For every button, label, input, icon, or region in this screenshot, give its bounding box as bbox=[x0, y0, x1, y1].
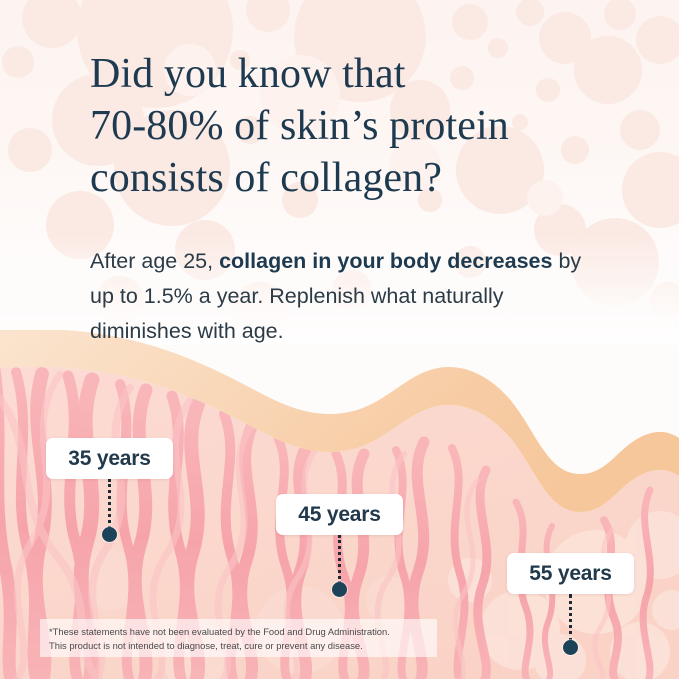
age-marker-35-label[interactable]: 35 years bbox=[46, 438, 173, 479]
body-segment-bold: collagen in your body decreases bbox=[219, 249, 552, 273]
disclaimer-line-1: *These statements have not been evaluate… bbox=[49, 625, 428, 639]
age-marker-45-label[interactable]: 45 years bbox=[276, 494, 403, 535]
age-marker-45-dot[interactable] bbox=[332, 582, 347, 597]
infographic-canvas: Did you know that 70-80% of skin’s prote… bbox=[0, 0, 679, 679]
headline-line-2: 70-80% of skin’s protein bbox=[90, 100, 630, 152]
page-title: Did you know that 70-80% of skin’s prote… bbox=[90, 48, 630, 204]
disclaimer-box: *These statements have not been evaluate… bbox=[40, 619, 437, 657]
headline-line-3: consists of collagen? bbox=[90, 152, 630, 204]
body-paragraph: After age 25, collagen in your body decr… bbox=[90, 244, 610, 349]
age-marker-45-leader-line bbox=[338, 535, 341, 584]
age-marker-55-label[interactable]: 55 years bbox=[507, 553, 634, 594]
age-marker-35-leader-line bbox=[108, 479, 111, 529]
age-marker-55-dot[interactable] bbox=[563, 640, 578, 655]
body-segment-1: After age 25, bbox=[90, 249, 219, 273]
age-marker-35-dot[interactable] bbox=[102, 527, 117, 542]
headline-line-1: Did you know that bbox=[90, 48, 630, 100]
disclaimer-line-2: This product is not intended to diagnose… bbox=[49, 639, 428, 653]
age-marker-55-leader-line bbox=[569, 594, 572, 642]
